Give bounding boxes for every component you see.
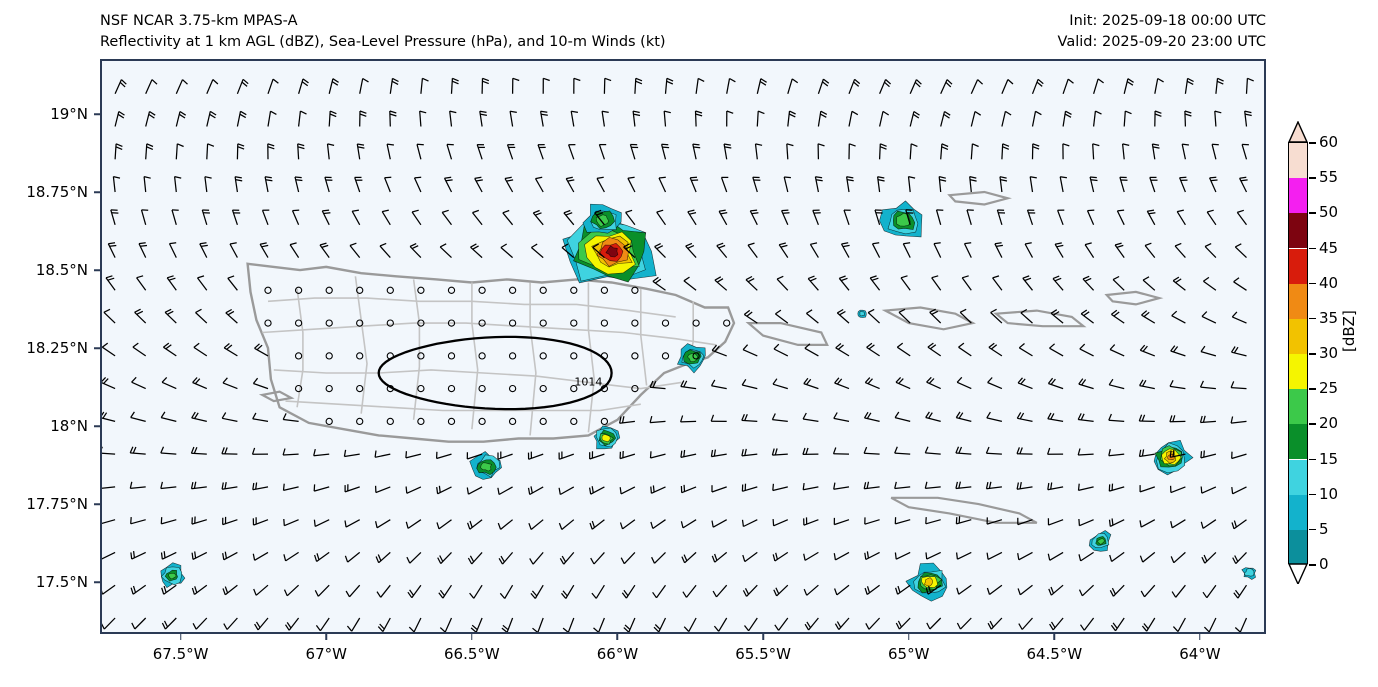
colorbar-tick-label-35: 35	[1319, 309, 1338, 327]
reflectivity-cell-east-interior-cell	[677, 344, 705, 373]
colorbar-tick-mark-50	[1309, 212, 1316, 214]
colorbar-tick-mark-20	[1309, 423, 1316, 425]
colorbar-tick-label-50: 50	[1319, 203, 1338, 221]
admin-boundary-8	[641, 289, 647, 386]
reflectivity-cell-mid-ocean-sliver	[858, 310, 867, 317]
x-axis-tick-mark-3	[617, 634, 619, 640]
colorbar-tick-label-55: 55	[1319, 168, 1338, 186]
coastline-island-3	[950, 192, 1008, 205]
colorbar-band-5-10	[1289, 495, 1307, 530]
reflectivity-cell-north-coast-secondary	[583, 204, 622, 233]
x-axis-tick-mark-1	[325, 634, 327, 640]
y-axis-tick-mark-5	[94, 503, 100, 505]
y-axis-tick-label-4: 18°N	[0, 417, 88, 435]
colorbar-tick-label-30: 30	[1319, 344, 1338, 362]
x-axis-tick-mark-6	[1054, 634, 1056, 640]
coastline-puerto-rico	[248, 264, 734, 442]
x-axis-tick-label-3: 66°W	[597, 645, 638, 663]
colorbar-tick-mark-0	[1309, 564, 1316, 566]
colorbar-tick-label-40: 40	[1319, 274, 1338, 292]
y-axis-tick-mark-1	[94, 191, 100, 193]
colorbar-tick-mark-15	[1309, 459, 1316, 461]
valid-time-label: Valid: 2025-09-20 23:00 UTC	[1058, 32, 1266, 53]
colorbar-tick-label-45: 45	[1319, 239, 1338, 257]
reflectivity-cell-far-west-cell	[161, 563, 185, 588]
y-axis-tick-mark-4	[94, 425, 100, 427]
y-axis-tick-mark-3	[94, 347, 100, 349]
map-svg-layers: 1014	[102, 61, 1264, 632]
x-axis-tick-label-5: 65°W	[888, 645, 929, 663]
admin-boundary-3	[355, 276, 367, 413]
colorbar-tick-label-20: 20	[1319, 414, 1338, 432]
reflectivity-cell-east-edge-sliver	[1242, 568, 1256, 580]
y-axis-tick-label-3: 18.25°N	[0, 339, 88, 357]
colorbar-tick-mark-5	[1309, 529, 1316, 531]
x-axis-tick-label-6: 64.5°W	[1026, 645, 1082, 663]
map-canvas: 1014	[102, 61, 1264, 632]
colorbar-tick-label-25: 25	[1319, 379, 1338, 397]
colorbar-band-35-40	[1289, 284, 1307, 319]
map-plot-area[interactable]: 1014	[100, 59, 1266, 634]
colorbar-under-arrow	[1288, 563, 1308, 584]
colorbar-band-45-50	[1289, 213, 1307, 248]
colorbar-gradient	[1288, 142, 1308, 564]
x-axis-tick-mark-5	[908, 634, 910, 640]
colorbar-tick-label-0: 0	[1319, 555, 1329, 573]
y-axis-tick-label-1: 18.75°N	[0, 183, 88, 201]
coastline-island-0	[749, 323, 828, 345]
field-title: Reflectivity at 1 km AGL (dBZ), Sea-Leve…	[100, 32, 666, 53]
colorbar-tick-label-60: 60	[1319, 133, 1338, 151]
colorbar-tick-mark-35	[1309, 318, 1316, 320]
reflectivity-cell-st-croix-cell	[1089, 531, 1111, 552]
wind-barb-field	[102, 78, 1254, 632]
x-axis-tick-mark-7	[1199, 634, 1201, 640]
x-axis-tick-label-4: 65.5°W	[735, 645, 791, 663]
x-axis-tick-mark-4	[762, 634, 764, 640]
x-axis-tick-label-2: 66.5°W	[444, 645, 500, 663]
colorbar-band-55-60	[1289, 143, 1307, 178]
y-axis-tick-mark-6	[94, 581, 100, 583]
colorbar-band-10-15	[1289, 460, 1307, 495]
x-axis-tick-label-7: 64°W	[1179, 645, 1220, 663]
colorbar-tick-label-10: 10	[1319, 485, 1338, 503]
slp-contour-label-0: 1014	[574, 376, 602, 389]
y-axis-tick-mark-0	[94, 113, 100, 115]
x-axis-tick-label-0: 67.5°W	[153, 645, 209, 663]
reflectivity-cell-southwest-coast-cell	[470, 452, 502, 480]
colorbar-band-40-45	[1289, 249, 1307, 284]
colorbar-band-0-5	[1289, 530, 1307, 565]
colorbar-over-arrow	[1288, 121, 1308, 142]
y-axis-tick-label-2: 18.5°N	[0, 261, 88, 279]
header-left-block: NSF NCAR 3.75-km MPAS-A Reflectivity at …	[100, 11, 666, 53]
colorbar-unit-label: [dBZ]	[1340, 310, 1358, 352]
coastline-island-2	[996, 311, 1083, 327]
colorbar-tick-mark-25	[1309, 388, 1316, 390]
colorbar-tick-mark-40	[1309, 283, 1316, 285]
x-axis-tick-mark-2	[471, 634, 473, 640]
coastline-island-5	[891, 498, 1037, 523]
colorbar-band-15-20	[1289, 424, 1307, 459]
reflectivity-colorbar[interactable]: 051015202530354045505560	[1288, 122, 1308, 584]
y-axis-tick-mark-2	[94, 269, 100, 271]
y-axis-tick-label-6: 17.5°N	[0, 573, 88, 591]
colorbar-tick-label-15: 15	[1319, 450, 1338, 468]
reflectivity-cell-south-vieques-cell	[906, 563, 947, 601]
colorbar-tick-mark-45	[1309, 248, 1316, 250]
colorbar-band-20-25	[1289, 389, 1307, 424]
coastline-island-4	[1107, 292, 1160, 305]
reflectivity-cell-vieques-north-cell	[880, 201, 923, 237]
model-title: NSF NCAR 3.75-km MPAS-A	[100, 11, 666, 32]
colorbar-band-50-55	[1289, 178, 1307, 213]
x-axis-tick-label-1: 67°W	[306, 645, 347, 663]
x-axis-tick-mark-0	[180, 634, 182, 640]
y-axis-tick-label-5: 17.75°N	[0, 495, 88, 513]
colorbar-tick-mark-30	[1309, 353, 1316, 355]
y-axis-tick-label-0: 19°N	[0, 105, 88, 123]
coastline-island-1	[885, 308, 972, 330]
colorbar-tick-label-5: 5	[1319, 520, 1329, 538]
colorbar-tick-mark-10	[1309, 494, 1316, 496]
colorbar-band-30-35	[1289, 319, 1307, 354]
colorbar-tick-mark-60	[1309, 142, 1316, 144]
init-time-label: Init: 2025-09-18 00:00 UTC	[1058, 11, 1266, 32]
admin-boundary-6	[530, 283, 536, 436]
reflectivity-cell-far-east-cell	[1154, 440, 1193, 475]
colorbar-tick-mark-55	[1309, 177, 1316, 179]
colorbar-band-25-30	[1289, 354, 1307, 389]
header-right-block: Init: 2025-09-18 00:00 UTC Valid: 2025-0…	[1058, 11, 1266, 53]
